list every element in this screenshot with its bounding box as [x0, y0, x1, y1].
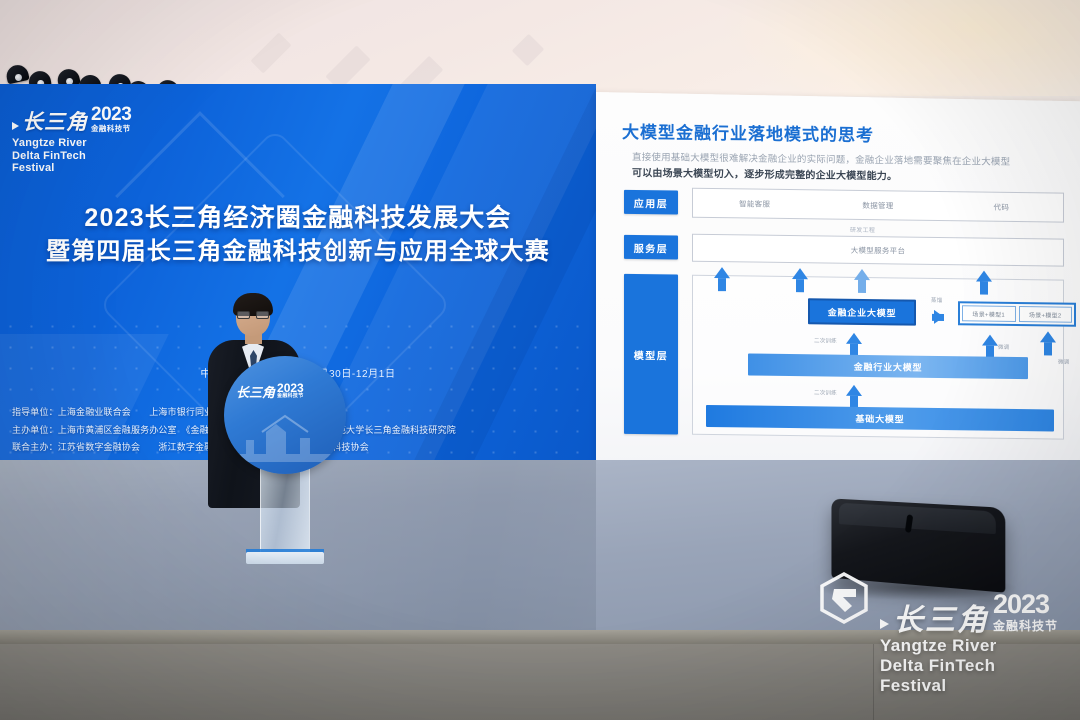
stage-light-icon: [4, 63, 29, 85]
service-cell: 大模型服务平台: [693, 242, 1063, 258]
flow-arrow-up-icon: [846, 385, 862, 396]
projection-screen: 大模型金融行业落地模式的思考 直接使用基础大模型很难解决金融企业的实际问题，金融…: [596, 92, 1080, 473]
watermark-en-lockup: Yangtze River Delta FinTech Festival: [880, 636, 997, 696]
flow-arrow-up-icon: [792, 268, 808, 279]
monitor-top-face: [839, 503, 996, 534]
glasses-lens-left: [237, 311, 250, 319]
watermark-en-line1: Yangtze River: [880, 636, 997, 656]
arrow-label-finetune: 微调: [1058, 358, 1069, 366]
layer-tag-model: 模型层: [624, 274, 678, 435]
flow-arrow-up-icon: [854, 269, 870, 280]
watermark-en-line2: Delta FinTech: [880, 656, 997, 676]
stage-photo: 长三角 2023 金融科技节 Yangtze River Delta FinTe…: [0, 0, 1080, 720]
industry-model-label: 金融行业大模型: [854, 359, 923, 373]
podium-base: [246, 552, 324, 564]
speaker-podium: 长三角 2023 金融科技节: [224, 356, 346, 568]
brand-en-line2: Delta FinTech: [12, 150, 182, 163]
app-cell: 数据管理: [816, 199, 939, 212]
watermark-en-line3: Festival: [880, 676, 997, 696]
flow-arrow-up-icon: [846, 333, 862, 344]
watermark-cn-lockup: 长三角 2023 金融科技节: [880, 592, 1058, 634]
festival-watermark: 长三角 2023 金融科技节 Yangtze River Delta FinTe…: [818, 570, 1068, 710]
podium-logo-sub: 金融科技节: [277, 394, 304, 399]
arrow-label-secondary-training: 二次训练: [814, 336, 837, 344]
podium-logo-panel: 长三角 2023 金融科技节: [224, 356, 346, 474]
enterprise-model-label: 金融企业大模型: [828, 305, 897, 319]
speaker-glasses-icon: [237, 311, 269, 319]
flow-arrow-up-icon: [982, 335, 998, 346]
podium-logo: 长三角 2023 金融科技节: [236, 382, 336, 399]
conference-headline: 2023长三角经济圈金融科技发展大会 暨第四届长三角金融科技创新与应用全球大赛: [0, 202, 596, 269]
watermark-year: 2023: [993, 592, 1049, 617]
service-layer-band: 大模型服务平台: [692, 234, 1064, 267]
arrow-label-distill: 蒸馏: [931, 296, 942, 304]
layer-tag-label: 应用层: [634, 194, 669, 209]
brand-en-line1: Yangtze River: [12, 137, 182, 150]
layer-tag-service: 服务层: [624, 235, 678, 260]
monitor-port-icon: [905, 514, 913, 533]
flow-arrow-up-icon: [714, 267, 730, 278]
application-layer-band: 智能客服 数据管理 代码: [692, 188, 1064, 223]
layer-tag-application: 应用层: [624, 190, 678, 215]
brand-arrow-icon: [12, 122, 19, 130]
arrow-label-finetune: 微调: [998, 343, 1009, 351]
podium-logo-hanzi: 长三角: [236, 386, 275, 399]
flow-arrow-up-icon: [976, 270, 992, 281]
scenario-model-group: 场景+模型1 场景+模型2: [958, 301, 1076, 327]
app-cell: 代码: [940, 200, 1063, 213]
hexagon-arrow-logo-icon: [818, 572, 870, 624]
glasses-lens-right: [256, 311, 269, 319]
arrow-label-secondary-training: 二次训练: [814, 388, 837, 396]
skyline-graphic-icon: [232, 410, 338, 462]
brand-cn-sub: 金融科技节: [91, 125, 131, 133]
flow-arrow-up-icon: [1040, 331, 1056, 342]
flow-arrow-right-icon: [934, 310, 944, 324]
slide-title: 大模型金融行业落地模式的思考: [622, 118, 874, 146]
scenario-model-box: 场景+模型1: [962, 305, 1016, 322]
headline-line-1: 2023长三角经济圈金融科技发展大会: [0, 202, 596, 235]
backdrop-brand-logo: 长三角 2023 金融科技节 Yangtze River Delta FinTe…: [12, 106, 182, 175]
base-model-bar: 基础大模型: [706, 405, 1054, 432]
brand-en-line3: Festival: [12, 162, 182, 175]
podium-stem: [260, 460, 310, 556]
band-note: 研发工程: [850, 225, 875, 234]
scenario-model-box: 场景+模型2: [1019, 306, 1073, 323]
brand-hanzi: 长三角: [22, 112, 88, 133]
brand-year: 2023: [91, 106, 131, 124]
watermark-arrow-icon: [880, 619, 889, 629]
layer-tag-label: 服务层: [634, 239, 669, 254]
slide-subtitle-2: 可以由场景大模型切入，逐步形成完整的企业大模型能力。: [632, 164, 897, 182]
industry-model-bar: 金融行业大模型: [748, 353, 1028, 379]
watermark-cn-sub: 金融科技节: [993, 617, 1058, 634]
base-model-label: 基础大模型: [855, 411, 904, 425]
presentation-slide: 大模型金融行业落地模式的思考 直接使用基础大模型很难解决金融企业的实际问题，金融…: [596, 93, 1080, 471]
watermark-hanzi: 长三角: [893, 607, 989, 634]
headline-line-2: 暨第四届长三角金融科技创新与应用全球大赛: [0, 235, 596, 269]
app-cell: 智能客服: [693, 197, 816, 210]
enterprise-model-box: 金融企业大模型: [808, 298, 916, 325]
layer-tag-label: 模型层: [634, 346, 669, 361]
